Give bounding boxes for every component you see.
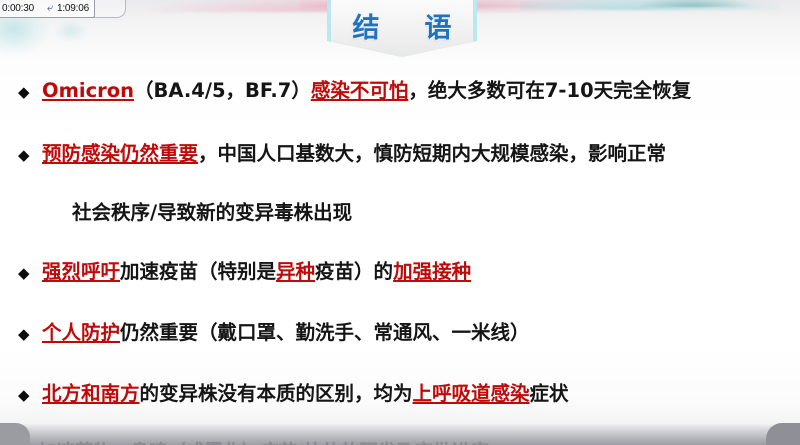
bullet-line: ◆北方和南方的变异株没有本质的区别，均为上呼吸道感染症状 [0,377,800,406]
emphasis-text: 预防感染仍然重要 [42,142,198,165]
page-title: 结 语 [327,6,477,45]
bullet-text: 个人防护仍然重要（戴口罩、勤洗手、常通风、一米线） [42,316,530,345]
player-bar-left-cap [0,423,30,445]
emphasis-text: 上呼吸道感染 [413,382,530,405]
bullet-line: ◆社会秩序/导致新的变异毒株出现 [0,196,800,225]
plain-text: 疫苗）的 [315,260,393,283]
plain-text: 社会秩序/导致新的变异毒株出现 [72,201,352,224]
bullet-text: 预防感染仍然重要，中国人口基数大，慎防短期内大规模感染，影响正常 [42,137,666,166]
bullet-text: 强烈呼吁加速疫苗（特别是异种疫苗）的加强接种 [42,255,471,284]
hud-rounded-tail [91,0,126,18]
bullet-text: 北方和南方的变异株没有本质的区别，均为上呼吸道感染症状 [42,377,569,406]
total-time-label: 1:09:06 [57,3,89,14]
emphasis-text: Omicron [42,79,134,102]
plain-text: 仍然重要（戴口罩、勤洗手、常通风、一米线） [120,321,530,344]
rewind-arrow-icon[interactable]: ⤷ [43,3,57,14]
elapsed-time-label: 0:00:30 [2,3,34,14]
plain-text: 的变异株没有本质的区别，均为 [140,382,413,405]
emphasis-text: 加强接种 [393,260,471,283]
plain-text: （BA.4/5，BF.7） [134,79,311,102]
watercolor-teal-accent [640,0,750,7]
emphasis-text: 感染不可怕 [311,79,409,102]
emphasis-text: 异种 [276,260,315,283]
emphasis-text: 个人防护 [42,321,120,344]
player-bar-right-cap [766,423,800,445]
plain-text: 加速疫苗（特别是 [120,260,276,283]
bullet-line: ◆Omicron（BA.4/5，BF.7）感染不可怕，绝大多数可在7-10天完全… [0,74,800,103]
video-time-hud[interactable]: 0:00:30 ⤷ 1:09:06 [0,0,95,18]
bullet-list: ◆Omicron（BA.4/5，BF.7）感染不可怕，绝大多数可在7-10天完全… [0,74,800,445]
bullet-line: ◆预防感染仍然重要，中国人口基数大，慎防短期内大规模感染，影响正常 [0,137,800,166]
bullet-diamond-icon: ◆ [18,388,42,403]
video-player-bar[interactable] [0,423,800,445]
plain-text: ，绝大多数可在7-10天完全恢复 [408,79,691,102]
bullet-diamond-icon: ◆ [18,85,42,100]
bullet-line: ◆个人防护仍然重要（戴口罩、勤洗手、常通风、一米线） [0,316,800,345]
bullet-diamond-icon: ◆ [18,148,42,163]
bullet-diamond-icon: ◆ [18,327,42,342]
emphasis-text: 北方和南方 [42,382,140,405]
emphasis-text: 强烈呼吁 [42,260,120,283]
plain-text: ，中国人口基数大，慎防短期内大规模感染，影响正常 [198,142,666,165]
plain-text: 症状 [530,382,569,405]
watercolor-blob-left-2 [54,20,88,42]
bullet-diamond-icon: ◆ [18,266,42,281]
bullet-text: 社会秩序/导致新的变异毒株出现 [72,196,352,225]
watercolor-teal-wash [520,0,780,10]
bullet-line: ◆强烈呼吁加速疫苗（特别是异种疫苗）的加强接种 [0,255,800,284]
presentation-slide: 0:00:30 ⤷ 1:09:06 结 语 ◆Omicron（BA.4/5，BF… [0,0,800,445]
bullet-text: Omicron（BA.4/5，BF.7）感染不可怕，绝大多数可在7-10天完全恢… [42,74,691,103]
slide-title-banner: 结 语 [327,0,477,57]
